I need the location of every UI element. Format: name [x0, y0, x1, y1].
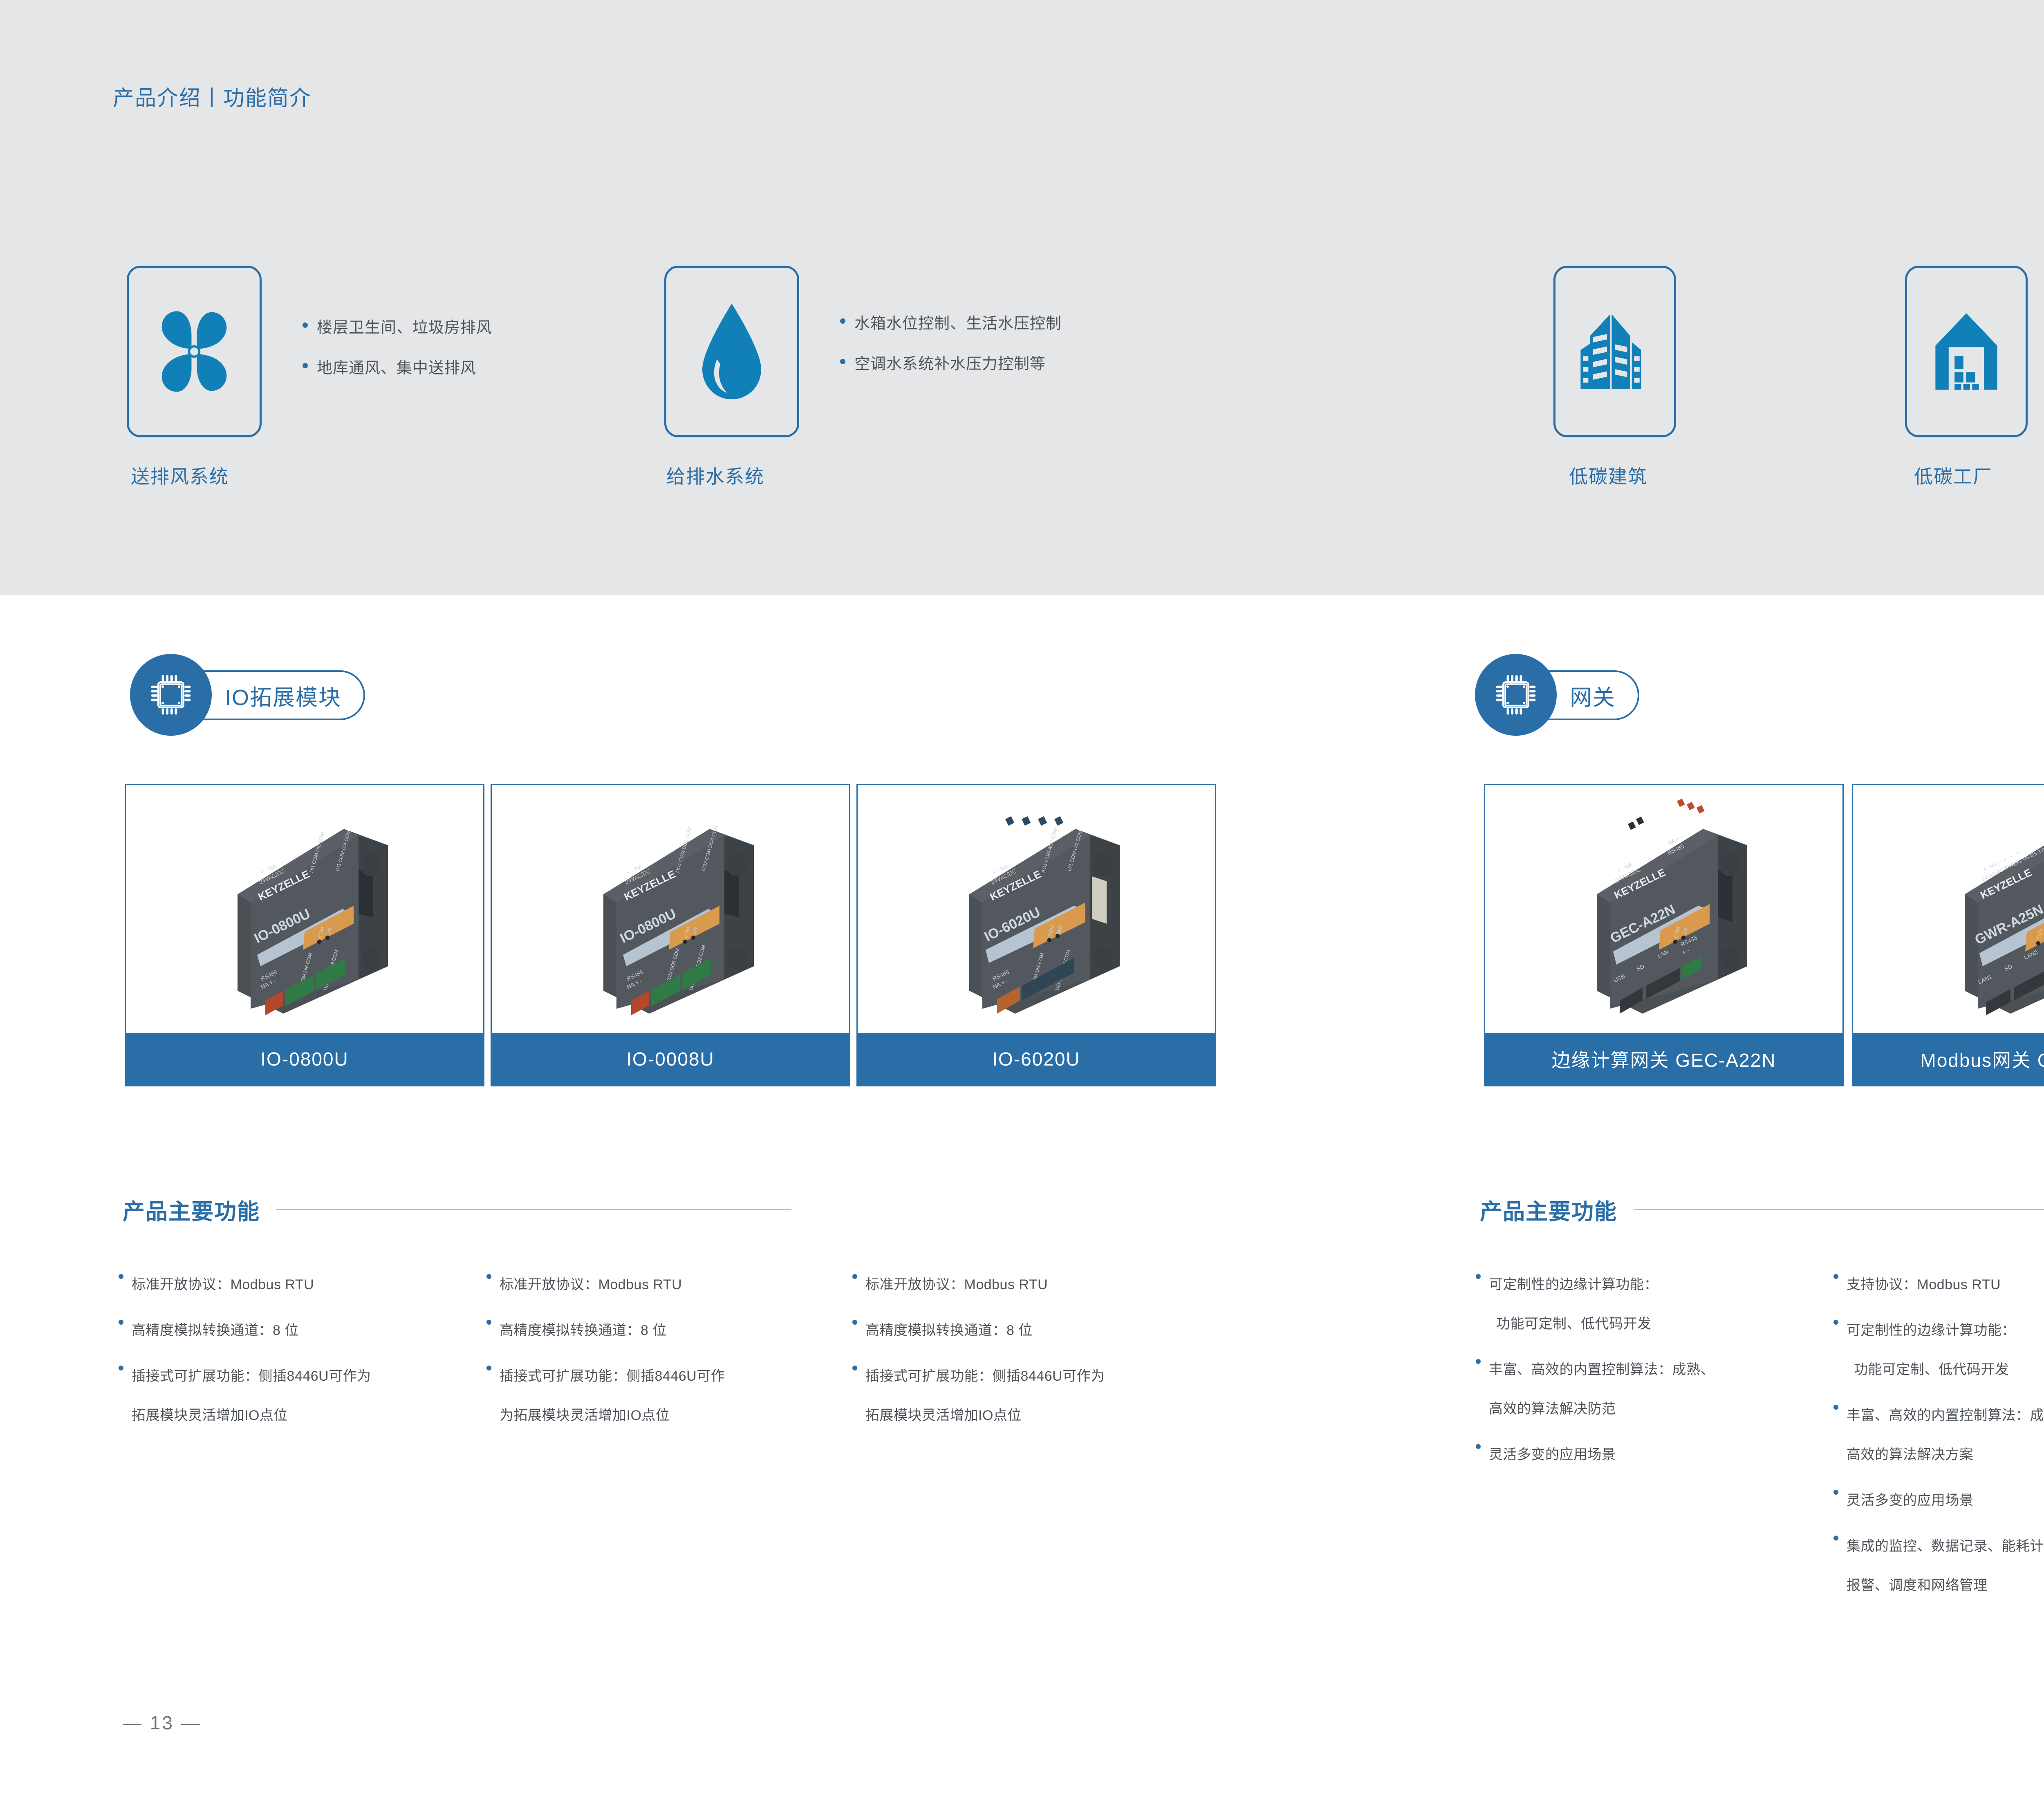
features-heading-text: 产品主要功能: [123, 1193, 260, 1226]
list-item: 集成的监控、数据记录、能耗计量、 报警、调度和网络管理: [1833, 1527, 2044, 1605]
feature-text: 支持协议：Modbus RTU: [1847, 1265, 2001, 1304]
list-item: 高精度模拟转换通道：8 位: [119, 1311, 486, 1350]
io-module-device-image: + - NA 24VAC/DC RS485 NA + - KEYZELLE IO…: [930, 795, 1143, 1023]
gateway-device-image: + - NA 24VAC/DC NA + - RS485 USB SD LAN …: [1558, 795, 1770, 1023]
fan-icon: [149, 302, 239, 401]
bullet-dot: [852, 1320, 857, 1325]
list-item: 标准开放协议：Modbus RTU: [852, 1265, 1220, 1304]
bullet-text: 空调水系统补水压力控制等: [854, 351, 1046, 374]
feature-text: 高精度模拟转换通道：8 位: [865, 1311, 1033, 1350]
feature-text: 高精度模拟转换通道：8 位: [500, 1311, 667, 1350]
feature-text: 可定制性的边缘计算功能： 功能可定制、低代码开发: [1847, 1311, 2016, 1389]
features-heading-text: 产品主要功能: [1480, 1193, 1617, 1226]
feature-text: 灵活多变的应用场景: [1489, 1435, 1616, 1474]
gateway-device-image: + - NA + - + - + - + - 24VAC/DC RS485-2 …: [1925, 795, 2044, 1023]
bullet-dot: [303, 322, 308, 328]
feature-text: 高精度模拟转换通道：8 位: [132, 1311, 299, 1350]
factory-icon: [1930, 305, 2003, 399]
bullet-dot: [840, 318, 845, 324]
scenario-water-bullets: 水箱水位控制、生活水压控制 空调水系统补水压力控制等: [840, 311, 1062, 374]
list-item: 丰富、高效的内置控制算法：成熟、 高效的算法解决方案: [1833, 1396, 2044, 1474]
feature-text: 插接式可扩展功能：侧插8446U可作为 拓展模块灵活增加IO点位: [132, 1357, 371, 1435]
office-building-icon: [1576, 305, 1654, 399]
list-item: 水箱水位控制、生活水压控制: [840, 311, 1062, 333]
list-item: 灵活多变的应用场景: [1833, 1481, 2044, 1520]
list-item: 高精度模拟转换通道：8 位: [486, 1311, 854, 1350]
product-name: IO-0008U: [626, 1048, 714, 1070]
bullet-dot: [486, 1366, 491, 1370]
bullet-dot: [119, 1274, 123, 1279]
bullet-dot: [1476, 1444, 1481, 1449]
product-photo: + - NA 24VAC/DC RS485 NA + - KEYZELLE IO…: [492, 785, 849, 1033]
product-photo: + - NA 24VAC/DC RS485 NA + - KEYZELLE IO…: [858, 785, 1215, 1033]
feature-text: 插接式可扩展功能：侧插8446U可作为 拓展模块灵活增加IO点位: [865, 1357, 1105, 1435]
list-item: 灵活多变的应用场景: [1476, 1435, 1836, 1474]
badge-label: IO拓展模块: [225, 679, 341, 712]
list-item: 楼层卫生间、垃圾房排风: [303, 315, 492, 337]
page-number-left: — 13 —: [123, 1712, 202, 1734]
bullet-dot: [852, 1274, 857, 1279]
feature-text: 可定制性的边缘计算功能： 功能可定制、低代码开发: [1489, 1265, 1658, 1343]
chip-icon: [147, 671, 195, 719]
list-item: 标准开放协议：Modbus RTU: [486, 1265, 854, 1304]
bullet-dot: [486, 1274, 491, 1279]
factory-icon-frame: [1905, 266, 2028, 437]
bullet-text: 楼层卫生间、垃圾房排风: [317, 315, 492, 337]
product-photo: + - NA 24VAC/DC RS485 NA + - KEYZELLE IO…: [126, 785, 483, 1033]
feature-text: 丰富、高效的内置控制算法：成熟、 高效的算法解决方案: [1847, 1396, 2044, 1474]
feature-text: 标准开放协议：Modbus RTU: [865, 1265, 1048, 1304]
bullet-dot: [119, 1366, 123, 1370]
feature-text: 标准开放协议：Modbus RTU: [132, 1265, 314, 1304]
io-module-device-image: + - NA 24VAC/DC RS485 NA + - KEYZELLE IO…: [564, 795, 777, 1023]
list-item: 支持协议：Modbus RTU: [1833, 1265, 2044, 1304]
water-drop-icon-frame: [664, 266, 799, 437]
feature-column: 可定制性的边缘计算功能： 功能可定制、低代码开发 丰富、高效的内置控制算法：成熟…: [1476, 1265, 1836, 1481]
product-name: IO-6020U: [992, 1048, 1080, 1070]
bullet-dot: [486, 1320, 491, 1325]
scenario-building-label: 低碳建筑: [1569, 462, 1647, 489]
bullet-dot: [852, 1366, 857, 1370]
product-caption: IO-6020U: [858, 1033, 1215, 1085]
list-item: 插接式可扩展功能：侧插8446U可作为 拓展模块灵活增加IO点位: [119, 1357, 486, 1435]
feature-column: 标准开放协议：Modbus RTU 高精度模拟转换通道：8 位 插接式可扩展功能…: [852, 1265, 1220, 1442]
list-item: 插接式可扩展功能：侧插8446U可作为 拓展模块灵活增加IO点位: [852, 1357, 1220, 1435]
page-header-left: 产品介绍丨功能简介: [113, 81, 312, 112]
features-heading-io: 产品主要功能: [123, 1193, 842, 1226]
bullet-dot: [1833, 1490, 1838, 1495]
heading-rule: [276, 1209, 791, 1210]
feature-text: 插接式可扩展功能：侧插8446U可作 为拓展模块灵活增加IO点位: [500, 1357, 725, 1435]
product-name: IO-0800U: [260, 1048, 348, 1070]
scenario-factory-label: 低碳工厂: [1914, 462, 1992, 489]
scenario-water-label: 给排水系统: [666, 462, 764, 489]
chip-icon-circle: [1475, 654, 1557, 736]
bullet-text: 地库通风、集中送排风: [317, 355, 476, 378]
bullet-dot: [1833, 1536, 1838, 1541]
feature-text: 集成的监控、数据记录、能耗计量、 报警、调度和网络管理: [1847, 1527, 2044, 1605]
feature-column: 标准开放协议：Modbus RTU 高精度模拟转换通道：8 位 插接式可扩展功能…: [486, 1265, 854, 1442]
product-name: Modbus网关 GWR-A25N: [1920, 1046, 2044, 1073]
io-module-device-image: + - NA 24VAC/DC RS485 NA + - KEYZELLE IO…: [198, 795, 411, 1023]
list-item: 插接式可扩展功能：侧插8446U可作 为拓展模块灵活增加IO点位: [486, 1357, 854, 1435]
heading-rule: [1634, 1209, 2044, 1210]
product-card[interactable]: + - NA 24VAC/DC RS485 NA + - KEYZELLE IO…: [491, 784, 850, 1086]
bullet-dot: [1833, 1274, 1838, 1279]
section-badge-io-module: IO拓展模块: [130, 654, 433, 736]
bullet-dot: [840, 359, 845, 364]
feature-column: 标准开放协议：Modbus RTU 高精度模拟转换通道：8 位 插接式可扩展功能…: [119, 1265, 486, 1442]
bullet-dot: [119, 1320, 123, 1325]
product-caption: IO-0800U: [126, 1033, 483, 1085]
list-item: 高精度模拟转换通道：8 位: [852, 1311, 1220, 1350]
bullet-dot: [1833, 1405, 1838, 1410]
list-item: 丰富、高效的内置控制算法：成熟、 高效的算法解决防范: [1476, 1350, 1836, 1429]
scenario-ventilation-bullets: 楼层卫生间、垃圾房排风 地库通风、集中送排风: [303, 315, 492, 378]
feature-text: 标准开放协议：Modbus RTU: [500, 1265, 682, 1304]
feature-column: 支持协议：Modbus RTU 可定制性的边缘计算功能： 功能可定制、低代码开发…: [1833, 1265, 2044, 1612]
water-drop-icon: [691, 300, 773, 403]
product-caption: 边缘计算网关 GEC-A22N: [1485, 1033, 1842, 1085]
product-name: 边缘计算网关 GEC-A22N: [1552, 1046, 1776, 1073]
bullet-dot: [1833, 1320, 1838, 1325]
scenario-ventilation-label: 送排风系统: [131, 462, 229, 489]
badge-label: 网关: [1570, 679, 1616, 712]
chip-icon: [1492, 671, 1540, 719]
list-item: 可定制性的边缘计算功能： 功能可定制、低代码开发: [1476, 1265, 1836, 1343]
product-caption: IO-0008U: [492, 1033, 849, 1085]
list-item: 空调水系统补水压力控制等: [840, 351, 1062, 374]
office-building-icon-frame: [1553, 266, 1676, 437]
feature-text: 灵活多变的应用场景: [1847, 1481, 1974, 1520]
fan-icon-frame: [127, 266, 262, 437]
section-badge-gateway: 网关: [1475, 654, 1720, 736]
bullet-dot: [1476, 1274, 1481, 1279]
bullet-dot: [303, 363, 308, 368]
bullet-dot: [1476, 1359, 1481, 1364]
product-photo: + - NA 24VAC/DC NA + - RS485 USB SD LAN …: [1485, 785, 1842, 1033]
product-card[interactable]: + - NA 24VAC/DC RS485 NA + - KEYZELLE IO…: [125, 784, 484, 1086]
feature-text: 丰富、高效的内置控制算法：成熟、 高效的算法解决防范: [1489, 1350, 1715, 1429]
chip-icon-circle: [130, 654, 212, 736]
product-card[interactable]: + - NA 24VAC/DC NA + - RS485 USB SD LAN …: [1484, 784, 1844, 1086]
product-card[interactable]: + - NA + - + - + - + - 24VAC/DC RS485-2 …: [1852, 784, 2044, 1086]
list-item: 地库通风、集中送排风: [303, 355, 492, 378]
product-photo: + - NA + - + - + - + - 24VAC/DC RS485-2 …: [1853, 785, 2044, 1033]
features-heading-gateway: 产品主要功能: [1480, 1193, 2044, 1226]
list-item: 标准开放协议：Modbus RTU: [119, 1265, 486, 1304]
list-item: 可定制性的边缘计算功能： 功能可定制、低代码开发: [1833, 1311, 2044, 1389]
product-caption: Modbus网关 GWR-A25N: [1853, 1033, 2044, 1085]
product-card[interactable]: + - NA 24VAC/DC RS485 NA + - KEYZELLE IO…: [856, 784, 1216, 1086]
bullet-text: 水箱水位控制、生活水压控制: [854, 311, 1062, 333]
